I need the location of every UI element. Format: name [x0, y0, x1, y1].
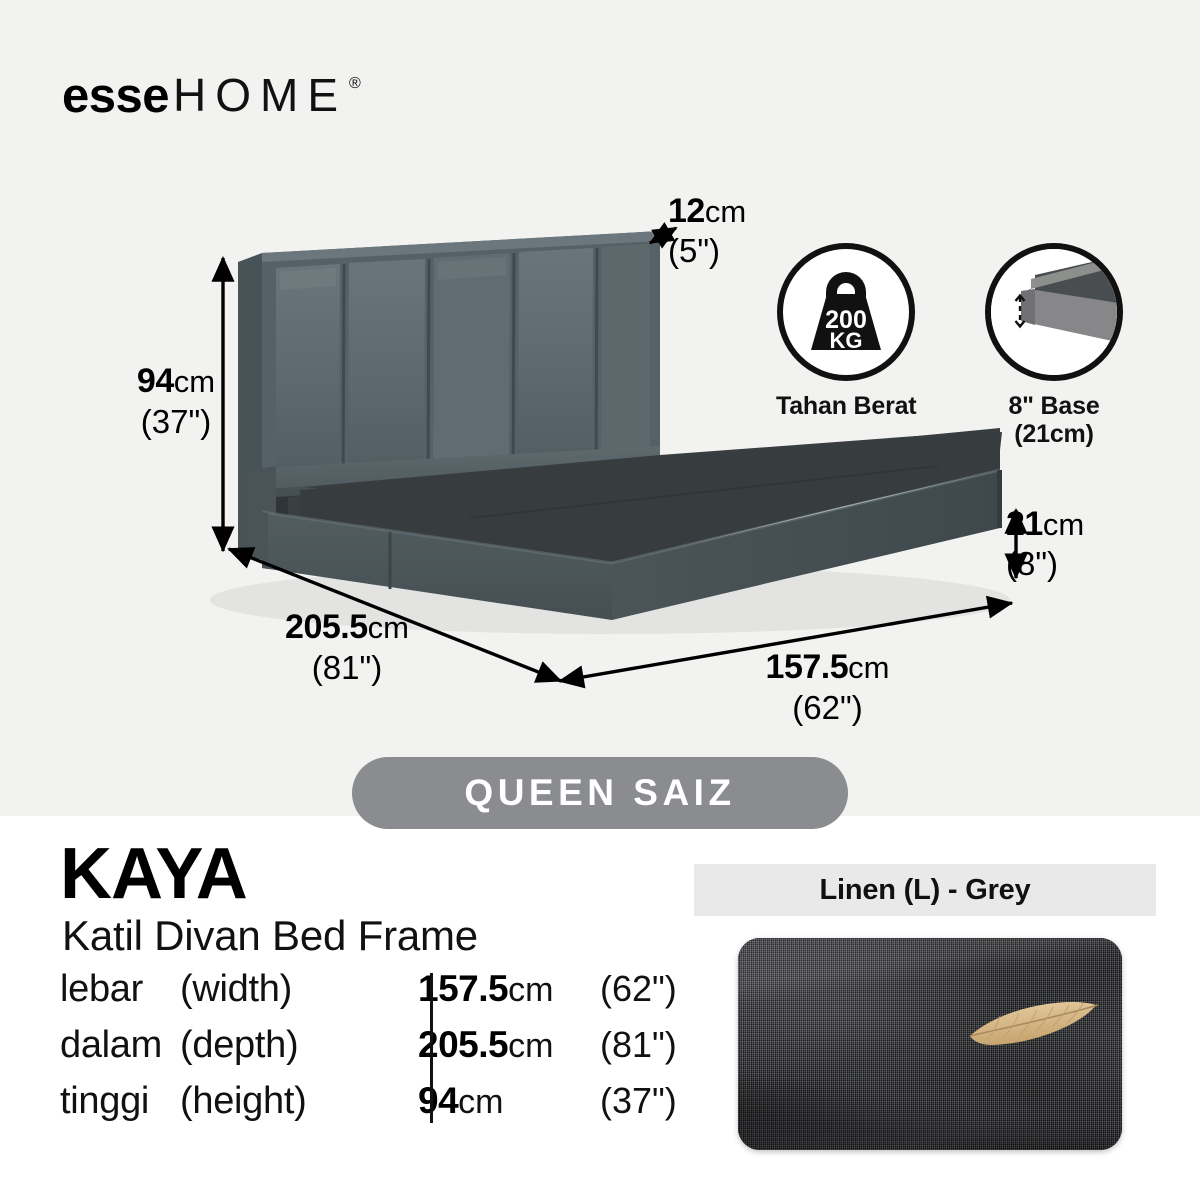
- base-height-imperial: (8"): [1006, 545, 1084, 583]
- spec-label-width: lebar (width): [60, 968, 376, 1011]
- weight-unit: KG: [830, 328, 863, 353]
- spec-unit-width: cm: [508, 971, 553, 1009]
- size-pill-badge: QUEEN SAIZ: [352, 757, 848, 829]
- hero-panel: esse HOME ®: [0, 0, 1200, 816]
- spec-label-ms: lebar: [60, 968, 180, 1011]
- weight-capacity-badge: 200 KG Tahan Berat: [776, 243, 916, 420]
- spec-label-en: (depth): [180, 1024, 298, 1067]
- depth-dimension-label: 205.5cm (81"): [262, 608, 432, 687]
- depth-unit: cm: [368, 610, 409, 645]
- thickness-imperial: (5"): [668, 232, 746, 270]
- weight-badge-circle: 200 KG: [777, 243, 915, 381]
- spec-label-depth: dalam (depth): [60, 1024, 376, 1067]
- height-imperial: (37"): [120, 403, 232, 441]
- spec-unit-depth: cm: [508, 1027, 553, 1065]
- spec-imperial-height: (37"): [600, 1080, 677, 1122]
- weight-kettlebell-icon: 200 KG: [783, 249, 909, 375]
- spec-value-height: 94: [418, 1080, 458, 1121]
- width-imperial: (62"): [740, 689, 915, 727]
- weight-badge-caption: Tahan Berat: [776, 392, 916, 420]
- spec-table: lebar (width) 157.5cm (62") dalam (depth…: [60, 968, 677, 1136]
- spec-imperial-depth: (81"): [600, 1024, 677, 1066]
- spec-label-en: (height): [180, 1080, 306, 1123]
- spec-imperial-width: (62"): [600, 968, 677, 1010]
- base-thickness-badge: 8" Base (21cm): [985, 243, 1123, 448]
- spec-row: dalam (depth) 205.5cm (81"): [60, 1024, 677, 1080]
- base-badge-caption: 8" Base (21cm): [985, 392, 1123, 448]
- depth-value: 205.5: [285, 608, 368, 646]
- base-height-unit: cm: [1043, 507, 1084, 542]
- spec-divider: [430, 973, 433, 1123]
- spec-values-depth: 205.5cm (81"): [376, 1024, 677, 1066]
- product-subtitle: Katil Divan Bed Frame: [62, 915, 478, 957]
- spec-values-width: 157.5cm (62"): [376, 968, 677, 1010]
- base-badge-caption-line2: (21cm): [1014, 420, 1093, 448]
- thickness-unit: cm: [705, 194, 746, 229]
- spec-label-ms: tinggi: [60, 1080, 180, 1123]
- base-badge-caption-line1: 8" Base: [1008, 392, 1099, 420]
- fabric-name-band: Linen (L) - Grey: [694, 864, 1156, 916]
- spec-label-height: tinggi (height): [60, 1080, 376, 1123]
- width-dimension-label: 157.5cm (62"): [740, 648, 915, 727]
- spec-metric-height: 94cm: [418, 1080, 600, 1122]
- spec-metric-width: 157.5cm: [418, 968, 600, 1010]
- spec-row: tinggi (height) 94cm (37"): [60, 1080, 677, 1136]
- fabric-swatch: [738, 938, 1122, 1150]
- spec-row: lebar (width) 157.5cm (62"): [60, 968, 677, 1024]
- spec-metric-depth: 205.5cm: [418, 1024, 600, 1066]
- spec-label-en: (width): [180, 968, 292, 1011]
- base-height-dimension-label: 21cm (8"): [1006, 505, 1084, 583]
- height-value: 94: [137, 362, 174, 400]
- base-height-value: 21: [1006, 505, 1043, 543]
- spec-values-height: 94cm (37"): [376, 1080, 677, 1122]
- bed-base-corner-icon: [991, 249, 1117, 375]
- spec-unit-height: cm: [458, 1083, 503, 1121]
- product-name: KAYA: [60, 838, 247, 910]
- width-value: 157.5: [766, 648, 849, 686]
- base-badge-circle: [985, 243, 1123, 381]
- leaf-icon: [738, 938, 1122, 1150]
- thickness-dimension-label: 12cm (5"): [668, 192, 746, 270]
- width-unit: cm: [848, 650, 889, 685]
- height-dimension-label: 94cm (37"): [120, 362, 232, 441]
- depth-imperial: (81"): [262, 649, 432, 687]
- thickness-value: 12: [668, 192, 705, 230]
- spec-label-ms: dalam: [60, 1024, 180, 1067]
- height-unit: cm: [174, 364, 215, 399]
